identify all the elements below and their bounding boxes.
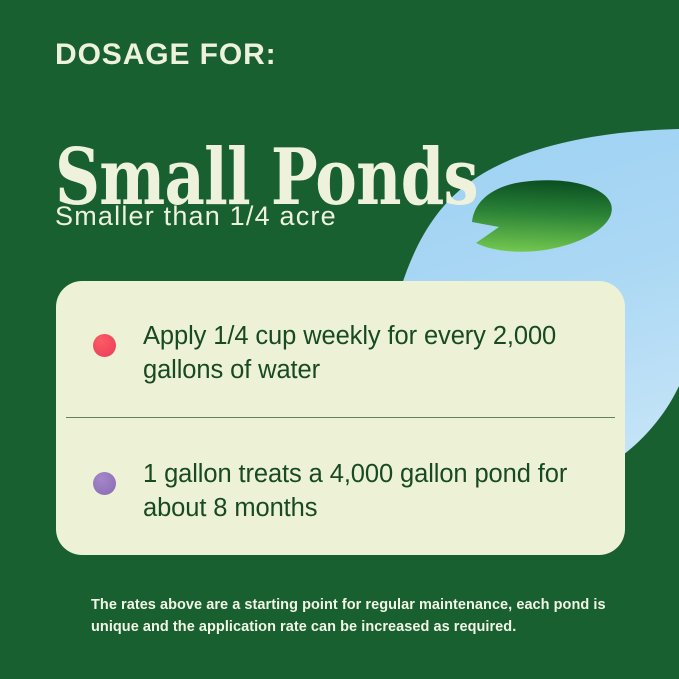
dosage-poster: DOSAGE FOR: Small Ponds Smaller than 1/4… (0, 0, 679, 679)
subtitle-label: Smaller than 1/4 acre (55, 203, 337, 230)
bullet-text: 1 gallon treats a 4,000 gallon pond for … (143, 458, 601, 525)
lily-pad (472, 180, 612, 252)
dosage-card: Apply 1/4 cup weekly for every 2,000 gal… (56, 281, 625, 555)
bullet-dot-purple-icon (93, 472, 116, 495)
bullet-dot-red-icon (93, 334, 116, 357)
footnote-text: The rates above are a starting point for… (91, 594, 611, 638)
list-item: 1 gallon treats a 4,000 gallon pond for … (56, 458, 625, 525)
eyebrow-label: DOSAGE FOR: (55, 40, 277, 70)
list-item: Apply 1/4 cup weekly for every 2,000 gal… (56, 320, 625, 387)
card-divider (66, 417, 615, 418)
bullet-text: Apply 1/4 cup weekly for every 2,000 gal… (143, 320, 601, 387)
